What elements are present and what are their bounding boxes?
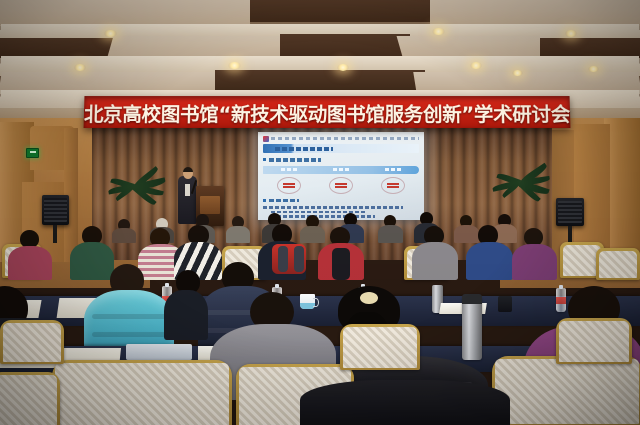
- exit-sign-icon: [26, 148, 39, 158]
- chair-mid-left: [0, 320, 64, 364]
- chair-front-right: [492, 356, 640, 425]
- bullet-dot-icon: [263, 199, 266, 202]
- presenter-shirt: [185, 184, 190, 196]
- chair-mid-right: [340, 324, 420, 370]
- downlight: [337, 64, 349, 71]
- bullet-text: [269, 199, 299, 203]
- chair-mid-far-right: [556, 318, 632, 364]
- banner-title: 北京高校图书馆“新技术驱动图书馆服务创新”学术研讨会: [84, 98, 571, 127]
- downlight: [512, 70, 523, 76]
- event-banner: 北京高校图书馆“新技术驱动图书馆服务创新”学术研讨会: [84, 96, 571, 128]
- downlight: [470, 62, 482, 69]
- slide-circle: [277, 177, 301, 194]
- ceiling-recess: [540, 38, 640, 58]
- bullet-text: [269, 158, 321, 162]
- ceiling-recess: [215, 70, 425, 90]
- downlight: [228, 62, 241, 69]
- bullet-dot-icon: [263, 158, 266, 161]
- conference-hall-photo: 北京高校图书馆“新技术驱动图书馆服务创新”学术研讨会: [0, 0, 640, 425]
- slide-circle: [329, 177, 353, 194]
- logo-wordmark: [271, 137, 419, 140]
- slide-bullet: [263, 158, 419, 162]
- downlight: [432, 28, 445, 35]
- logo-mark-icon: [263, 136, 269, 142]
- presenter-hair: [183, 167, 193, 172]
- ceiling-recess: [250, 0, 430, 22]
- chair-front-left: [52, 360, 232, 425]
- steel-thermos-large: [462, 296, 482, 360]
- thermos-cap: [462, 294, 482, 304]
- potted-plant-right: [492, 152, 552, 214]
- ceiling-panel: [0, 0, 250, 26]
- slide-logo: [263, 135, 419, 142]
- slide-title-bar: [263, 144, 419, 153]
- slide-title-text: [275, 147, 333, 151]
- ceiling-panel: [430, 0, 640, 26]
- process-step: [333, 168, 349, 171]
- downlight: [104, 30, 117, 37]
- slide-circle-group: [263, 177, 419, 194]
- document-stack: [126, 344, 192, 360]
- attendee-foreground-shoulder: [300, 380, 510, 425]
- slide-process-arrow: [263, 166, 419, 174]
- slide-bullet: [263, 199, 419, 203]
- slide-circle: [381, 177, 405, 194]
- process-step: [281, 168, 297, 171]
- process-step: [385, 168, 401, 171]
- ceiling-recess: [0, 38, 120, 58]
- downlight: [588, 66, 599, 72]
- downlight: [74, 64, 86, 71]
- downlight: [565, 30, 577, 37]
- chair-front-far-left: [0, 372, 60, 425]
